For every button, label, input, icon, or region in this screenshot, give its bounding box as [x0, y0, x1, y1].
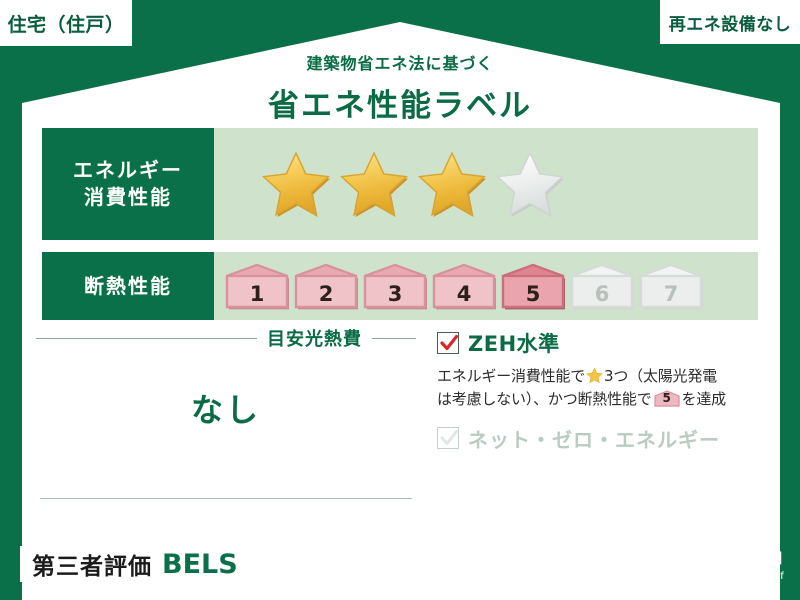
bels-badge-en: BELS: [162, 549, 238, 580]
energy-performance-row: エネルギー 消費性能: [42, 128, 758, 240]
zeh-standard-row: ZEH水準: [437, 328, 767, 358]
check-icon: [439, 333, 459, 353]
energy-performance-label-line2: 消費性能: [84, 184, 172, 211]
insulation-level-tick-number: 6: [569, 282, 635, 306]
renewable-energy-tag-label: 再エネ設備なし: [669, 10, 792, 35]
insulation-level-tick-number: 1: [224, 282, 290, 306]
insulation-level-tick: 7: [638, 262, 704, 310]
insulation-level-chip-number: 5: [654, 389, 680, 408]
insulation-level-chip: 5: [654, 390, 680, 407]
bels-energy-label: 住宅（住戸） 再エネ設備なし 建築物省エネ法に基づく 省エネ性能ラベル エネルギ…: [0, 0, 800, 600]
check-icon-muted: [439, 428, 459, 448]
net-zero-energy-checkbox[interactable]: [437, 427, 459, 449]
title-subtitle: 建築物省エネ法に基づく: [0, 50, 800, 74]
utility-cost-heading: 目安光熱費: [36, 325, 416, 351]
zeh-desc-part1: エネルギー消費性能で: [437, 367, 585, 385]
utility-cost-value: なし: [36, 385, 416, 431]
zeh-panel: ZEH水準 エネルギー消費性能で3つ（太陽光発電は考慮しない）、かつ断熱性能で5…: [437, 328, 767, 453]
insulation-level-tick: 5: [500, 262, 566, 310]
insulation-level-tick-number: 7: [638, 282, 704, 306]
insulation-level-tick-number: 3: [362, 282, 428, 306]
star-icon: [586, 367, 603, 384]
building-type-tag-label: 住宅（住戸）: [7, 10, 124, 37]
renewable-energy-tag: 再エネ設備なし: [660, 0, 800, 44]
star-icon-filled: [416, 149, 488, 219]
evaluation-id: a464eca9-c045-42cf: [620, 571, 784, 582]
bels-badge: 第三者評価 BELS: [20, 546, 250, 582]
heading-rule-right: [372, 338, 416, 339]
utility-cost-panel: 目安光熱費 なし: [36, 325, 416, 505]
zeh-standard-title: ZEH水準: [468, 328, 560, 358]
insulation-level-tick: 6: [569, 262, 635, 310]
building-type-tag: 住宅（住戸）: [0, 0, 132, 46]
energy-performance-label: エネルギー 消費性能: [42, 128, 214, 240]
page-title: 省エネ性能ラベル: [0, 80, 800, 125]
star-icon-filled: [260, 149, 332, 219]
insulation-level-tick-number: 5: [500, 282, 566, 306]
insulation-level-tick: 3: [362, 262, 428, 310]
property-address: 犬山市五郎丸鷺寺-591692-0001: [272, 556, 504, 577]
zeh-description: エネルギー消費性能で3つ（太陽光発電は考慮しない）、かつ断熱性能で5を達成: [437, 365, 767, 412]
energy-star-rating: [214, 128, 758, 240]
title-block: 建築物省エネ法に基づく 省エネ性能ラベル: [0, 50, 800, 125]
evaluation-date: 評価日 2025年11月4日: [620, 547, 784, 568]
utility-cost-bottom-rule: [40, 498, 412, 499]
bels-badge-jp: 第三者評価: [32, 547, 152, 581]
zeh-desc-part2: 3つ（太陽光発電: [604, 367, 717, 385]
net-zero-energy-label: ネット・ゼロ・エネルギー: [468, 424, 720, 453]
insulation-level-tick-number: 2: [293, 282, 359, 306]
star-icon-empty: [494, 149, 566, 219]
insulation-performance-row: 断熱性能 1234567: [42, 252, 758, 320]
insulation-level-tick: 4: [431, 262, 497, 310]
zeh-desc-part4: を達成: [682, 390, 726, 408]
insulation-level-tick: 1: [224, 262, 290, 310]
net-zero-energy-row: ネット・ゼロ・エネルギー: [437, 424, 767, 453]
footer: 第三者評価 BELS 犬山市五郎丸鷺寺-591692-0001 評価日 2025…: [0, 538, 800, 600]
zeh-desc-part3: は考慮しない）、かつ断熱性能で: [437, 390, 652, 408]
insulation-level-tick: 2: [293, 262, 359, 310]
energy-performance-label-line1: エネルギー: [73, 157, 183, 184]
zeh-standard-checkbox[interactable]: [437, 332, 459, 354]
utility-cost-heading-text: 目安光熱費: [267, 325, 362, 351]
insulation-performance-label-text: 断熱性能: [84, 273, 172, 300]
star-icon-filled: [338, 149, 410, 219]
heading-rule-left: [36, 338, 257, 339]
insulation-level-scale: 1234567: [214, 252, 758, 320]
insulation-performance-label: 断熱性能: [42, 252, 214, 320]
evaluation-info: 評価日 2025年11月4日 a464eca9-c045-42cf: [620, 547, 784, 582]
insulation-level-tick-number: 4: [431, 282, 497, 306]
